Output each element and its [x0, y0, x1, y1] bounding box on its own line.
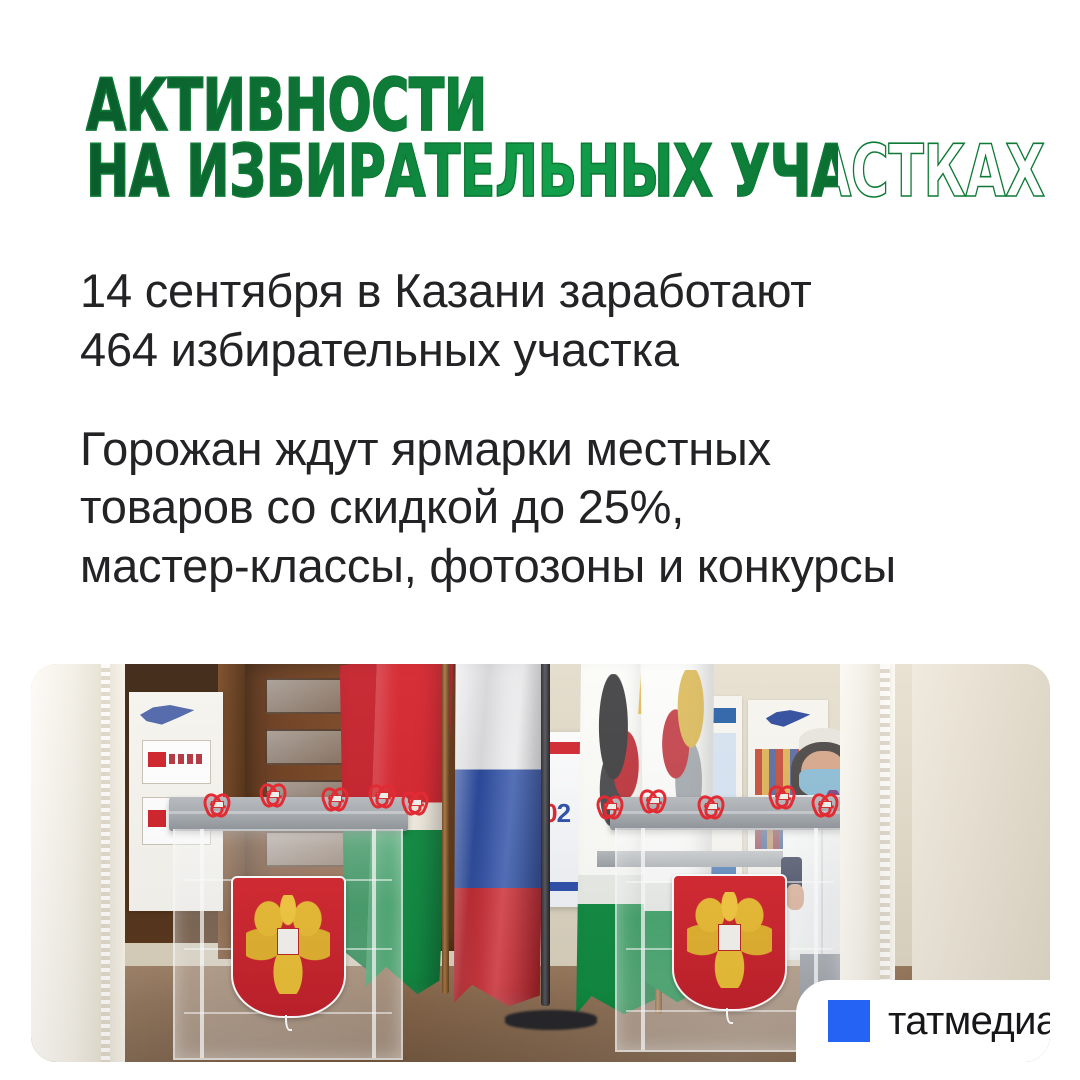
tatmedia-wordmark: татмедиа [888, 1001, 1050, 1041]
flag-pole-tatarstan [442, 664, 449, 994]
security-seal [698, 795, 724, 813]
ballot-box-left [169, 797, 408, 1060]
page-title: АКТИВНОСТИ НА ИЗБИРАТЕЛЬНЫХ УЧАСТКАХ [86, 72, 1026, 204]
security-seal [769, 785, 795, 803]
wing-emblem-icon [140, 705, 194, 725]
watermark-logo-badge: татмедиа [796, 980, 1050, 1062]
headline-line-2: НА ИЗБИРАТЕЛЬНЫХ УЧАСТКАХ [86, 138, 838, 204]
security-seal [402, 791, 428, 809]
poster-canvas: АКТИВНОСТИ НА ИЗБИРАТЕЛЬНЫХ УЧАСТКАХ 14 … [0, 0, 1080, 1080]
security-seal [204, 793, 230, 811]
russian-coat-of-arms-icon-left [231, 876, 346, 1018]
notice-card-upper [142, 740, 211, 784]
polling-station-photo: 02 [31, 664, 1050, 1062]
security-seal [260, 783, 286, 801]
notice-card-upper-text-lines [169, 754, 204, 765]
wall-poster-3-wing-icon [766, 710, 811, 727]
flag-stand-base [505, 1010, 597, 1030]
paragraph-1: 14 сентября в Казани заработают 464 изби… [80, 262, 1040, 380]
body-copy: 14 сентября в Казани заработают 464 изби… [80, 262, 1040, 596]
paragraph-2: Горожан ждут ярмарки местных товаров со … [80, 420, 1040, 596]
tatmedia-square-icon [828, 1000, 870, 1042]
column-left [31, 664, 125, 1062]
flag-russia [454, 664, 571, 1006]
security-seal [322, 787, 348, 805]
paragraph-1-line-2: 464 избирательных участка [80, 321, 1040, 380]
security-seal [640, 789, 666, 807]
russian-coat-of-arms-icon-right [672, 874, 787, 1012]
notice-card-lower-mark [148, 810, 166, 827]
paragraph-2-line-3: мастер-классы, фотозоны и конкурсы [80, 537, 1040, 596]
security-seal [812, 793, 838, 811]
paragraph-2-line-1: Горожан ждут ярмарки местных [80, 420, 1040, 479]
security-seal [597, 795, 623, 813]
column-left-beading [101, 664, 109, 1062]
flag-pole-russia [541, 664, 550, 1006]
security-seal [369, 784, 395, 802]
paragraph-2-line-2: товаров со скидкой до 25%, [80, 478, 1040, 537]
paragraph-1-line-1: 14 сентября в Казани заработают [80, 262, 1040, 321]
notice-card-upper-mark [148, 752, 166, 767]
